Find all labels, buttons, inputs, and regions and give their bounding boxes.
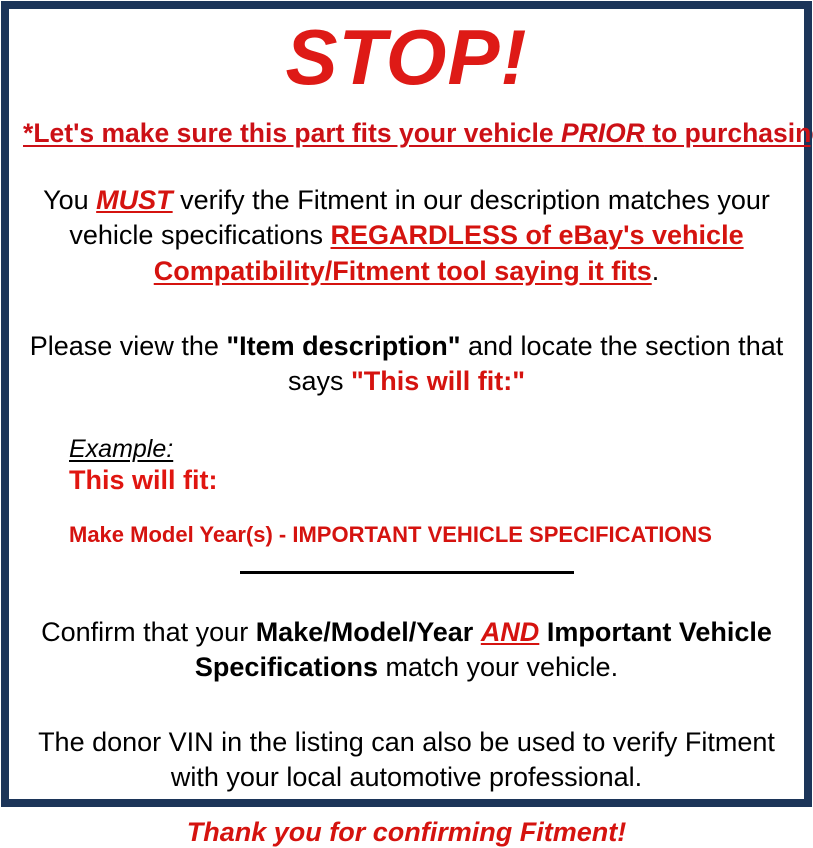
example-block: Example: This will fit: Make Model Year(… bbox=[23, 435, 790, 547]
must-part-one: You bbox=[43, 185, 96, 215]
confirm-part-one: Confirm that your bbox=[41, 617, 256, 647]
please-view-paragraph: Please view the "Item description" and l… bbox=[23, 329, 790, 399]
example-this-will-fit: This will fit: bbox=[69, 465, 790, 496]
please-part-one: Please view the bbox=[30, 331, 227, 361]
confirm-part-two: match your vehicle. bbox=[378, 652, 618, 682]
fitment-tagline: *Let's make sure this part fits your veh… bbox=[23, 118, 790, 149]
confirm-space-one bbox=[473, 617, 481, 647]
tagline-text-after: to purchasing* bbox=[645, 118, 813, 148]
example-label: Example: bbox=[69, 435, 173, 463]
must-part-three: . bbox=[652, 256, 660, 286]
item-description-quote: "Item description" bbox=[226, 331, 460, 361]
and-keyword: AND bbox=[481, 617, 540, 647]
must-keyword: MUST bbox=[96, 185, 173, 215]
confirm-space-two bbox=[539, 617, 547, 647]
stop-heading: STOP! bbox=[23, 17, 790, 98]
fitment-notice-body: STOP! *Let's make sure this part fits yo… bbox=[9, 9, 804, 799]
section-divider bbox=[240, 571, 574, 574]
fitment-notice-frame: STOP! *Let's make sure this part fits yo… bbox=[1, 1, 812, 807]
make-model-year-bold: Make/Model/Year bbox=[256, 617, 474, 647]
tagline-text-before: *Let's make sure this part fits your veh… bbox=[23, 118, 561, 148]
confirm-paragraph: Confirm that your Make/Model/Year AND Im… bbox=[23, 615, 790, 685]
closing-thank-you: Thank you for confirming Fitment! bbox=[23, 816, 790, 848]
section-divider-wrapper bbox=[23, 571, 790, 585]
must-verify-paragraph: You MUST verify the Fitment in our descr… bbox=[23, 183, 790, 288]
example-label-row: Example: bbox=[69, 435, 790, 463]
this-will-fit-quote: "This will fit:" bbox=[351, 366, 525, 396]
tagline-emphasis-prior: PRIOR bbox=[561, 118, 645, 148]
example-spec-line: Make Model Year(s) - IMPORTANT VEHICLE S… bbox=[69, 522, 790, 547]
donor-vin-paragraph: The donor VIN in the listing can also be… bbox=[23, 725, 790, 795]
